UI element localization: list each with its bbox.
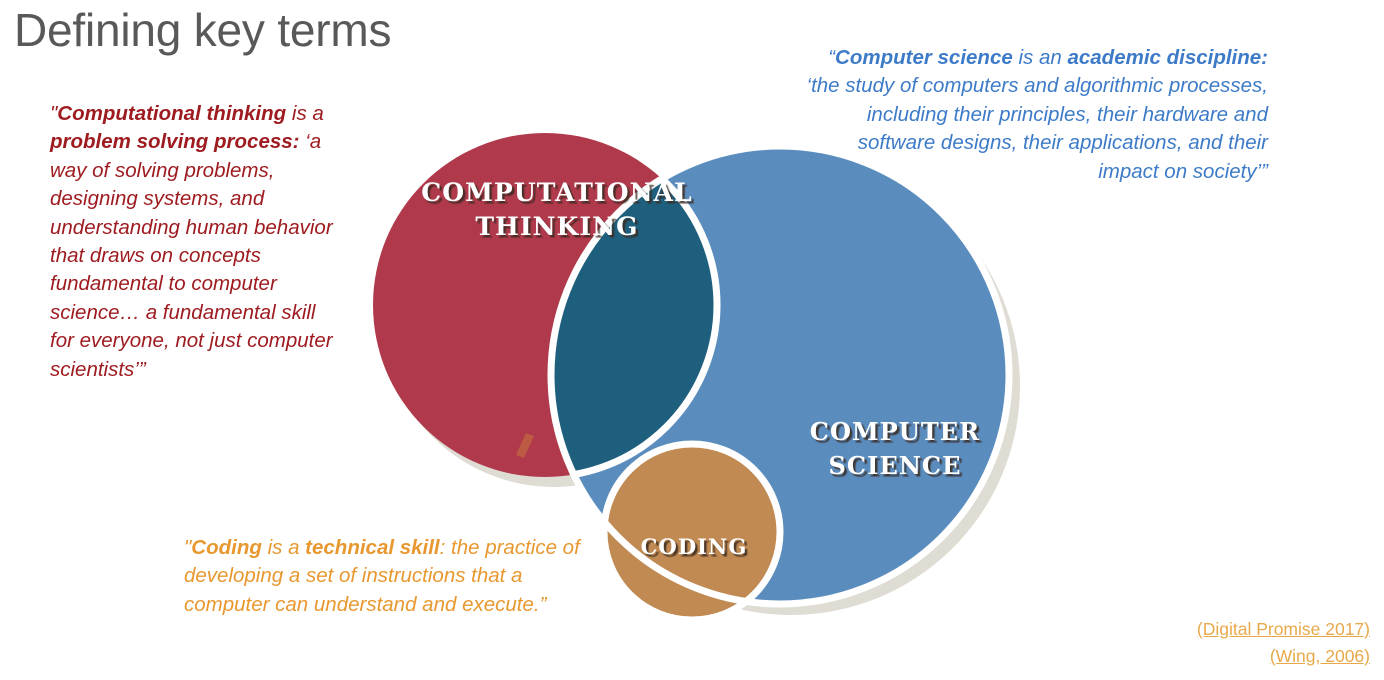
page-title: Defining key terms: [14, 2, 391, 58]
label-coding: CODING: [641, 534, 748, 559]
quote-coding-mid: is a: [262, 536, 305, 559]
quote-cs-body: ‘the study of computers and algorithmic …: [807, 74, 1268, 182]
label-computational-thinking-line2: THINKING: [475, 212, 638, 241]
quote-cs-term: Computer science: [835, 46, 1013, 69]
quote-cs-term2: academic discipline:: [1067, 46, 1268, 69]
quote-ct-mid: is a: [286, 102, 324, 125]
label-computer-science-line1: COMPUTER: [810, 417, 980, 446]
quote-computational-thinking: "Computational thinking is a problem sol…: [50, 100, 340, 384]
quote-cs-open: “: [828, 46, 835, 69]
citation-link-wing[interactable]: (Wing, 2006): [1197, 643, 1370, 670]
quote-ct-body: ‘a way of solving problems, designing sy…: [50, 130, 333, 380]
citations: (Digital Promise 2017) (Wing, 2006): [1197, 616, 1370, 670]
quote-coding-term: Coding: [191, 536, 262, 559]
quote-coding-term2: technical skill: [305, 536, 439, 559]
quote-coding: "Coding is a technical skill: the practi…: [184, 534, 604, 619]
label-computer-science-line2: SCIENCE: [829, 451, 962, 480]
slide-canvas: Defining key terms: [0, 0, 1384, 676]
citation-link-digital-promise[interactable]: (Digital Promise 2017): [1197, 616, 1370, 643]
quote-ct-term: Computational thinking: [57, 102, 286, 125]
quote-computer-science: “Computer science is an academic discipl…: [806, 44, 1268, 186]
label-computational-thinking-line1: COMPUTATIONAL: [421, 178, 692, 207]
quote-ct-term2: problem solving process:: [50, 130, 299, 153]
quote-cs-mid: is an: [1013, 46, 1068, 69]
